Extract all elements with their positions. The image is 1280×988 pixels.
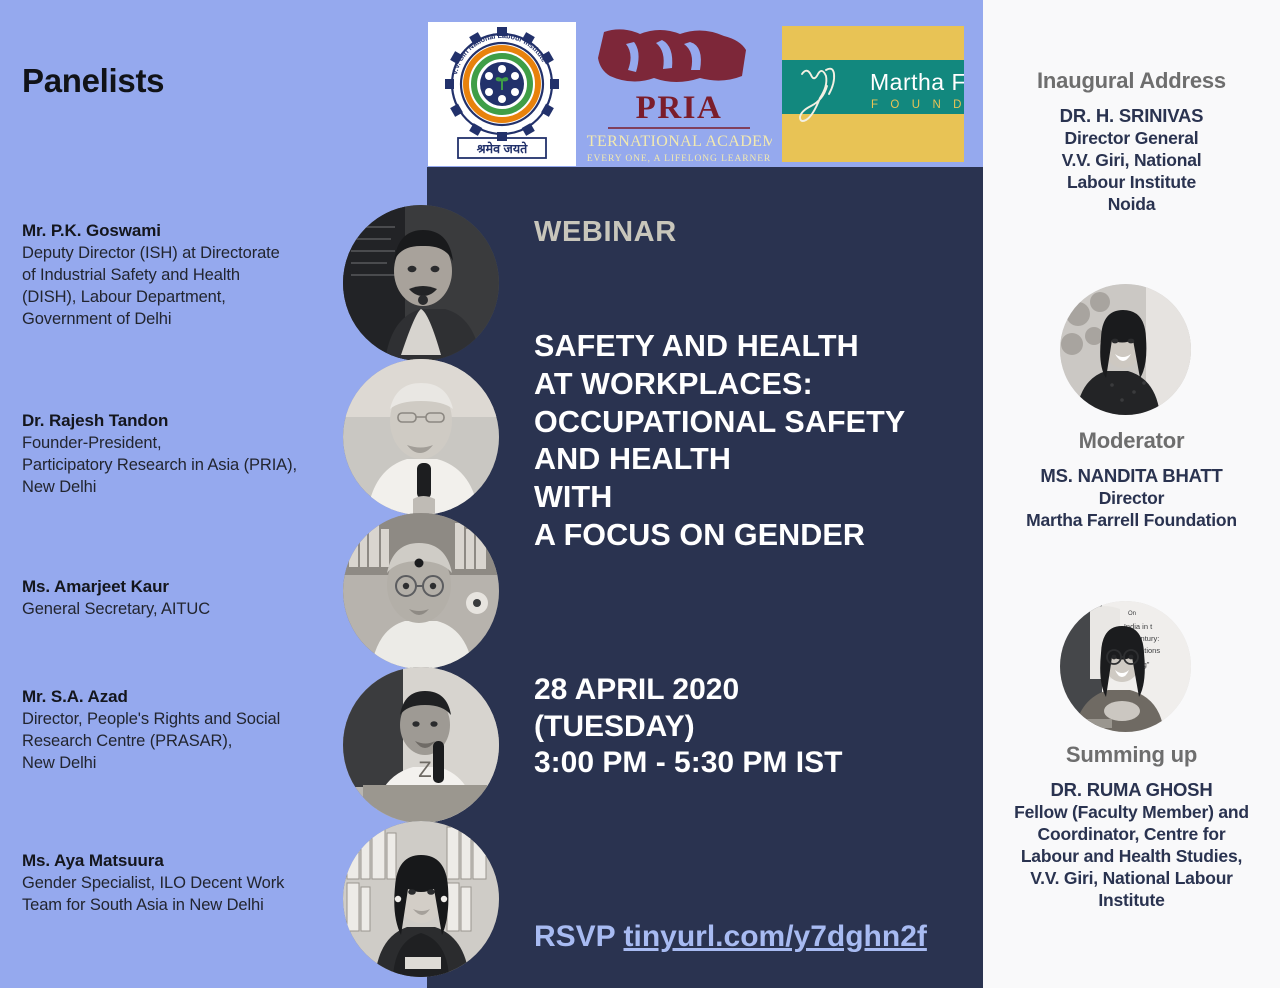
- panelist-name: Mr. S.A. Azad: [22, 686, 340, 708]
- panelist-item-4: Mr. S.A. Azad Director, People's Rights …: [22, 686, 340, 775]
- panelist-photo-4: Z: [343, 667, 499, 823]
- moderator-section: Moderator MS. NANDITA BHATT Director Mar…: [995, 428, 1268, 531]
- title-line: OCCUPATIONAL SAFETY: [534, 404, 964, 442]
- rsvp-link[interactable]: tinyurl.com/y7dghn2f: [624, 920, 927, 953]
- panelist-item-1: Mr. P.K. Goswami Deputy Director (ISH) a…: [22, 220, 340, 331]
- event-date: 28 APRIL 2020: [534, 672, 954, 709]
- panelist-item-3: Ms. Amarjeet Kaur General Secretary, AIT…: [22, 576, 340, 621]
- panelist-photo-2: [343, 359, 499, 515]
- webinar-poster: V.V. Giri National Labour Institute श्रम…: [0, 0, 1280, 988]
- section-body: MS. NANDITA BHATT Director Martha Farrel…: [995, 464, 1268, 531]
- svg-text:Z: Z: [418, 757, 431, 782]
- title-line: AND HEALTH: [534, 441, 964, 479]
- svg-text:EVERY ONE, A LIFELONG LEARNER: EVERY ONE, A LIFELONG LEARNER: [587, 154, 771, 164]
- event-datetime: 28 APRIL 2020 (TUESDAY) 3:00 PM - 5:30 P…: [534, 672, 954, 782]
- svg-text:श्रमेव जयते: श्रमेव जयते: [476, 141, 528, 156]
- rsvp-block: RSVP tinyurl.com/y7dghn2f: [534, 920, 927, 954]
- webinar-kicker: WEBINAR: [534, 216, 677, 249]
- panelists-heading: Panelists: [22, 62, 164, 100]
- pria-logo: PRIA INTERNATIONAL ACADEMY EVERY ONE, A …: [586, 22, 772, 166]
- title-line: AT WORKPLACES:: [534, 366, 964, 404]
- panelist-photo-1: [343, 205, 499, 361]
- martha-farrell-foundation-logo: Martha Farrell F O U N D A T I O N: [782, 26, 964, 162]
- section-label: Summing up: [995, 742, 1268, 768]
- webinar-title: SAFETY AND HEALTH AT WORKPLACES: OCCUPAT…: [534, 328, 964, 555]
- title-line: A FOCUS ON GENDER: [534, 517, 964, 555]
- title-line: WITH: [534, 479, 964, 517]
- svg-text:Martha Farrell: Martha Farrell: [870, 69, 964, 95]
- panelist-role: Gender Specialist, ILO Decent Work Team …: [22, 873, 340, 917]
- speaker-photo-nandita-bhatt: [1060, 284, 1191, 415]
- title-line: SAFETY AND HEALTH: [534, 328, 964, 366]
- panelist-name: Ms. Amarjeet Kaur: [22, 576, 340, 598]
- panelist-role: General Secretary, AITUC: [22, 599, 340, 621]
- section-body: DR. H. SRINIVAS Director General V.V. Gi…: [995, 104, 1268, 215]
- panelist-photo-5: [343, 821, 499, 977]
- section-label: Moderator: [995, 428, 1268, 454]
- svg-text:INTERNATIONAL ACADEMY: INTERNATIONAL ACADEMY: [586, 133, 772, 150]
- section-body: DR. RUMA GHOSH Fellow (Faculty Member) a…: [995, 778, 1268, 912]
- panelist-name: Dr. Rajesh Tandon: [22, 410, 340, 432]
- vvgnli-logo: V.V. Giri National Labour Institute श्रम…: [428, 22, 576, 166]
- section-label: Inaugural Address: [995, 68, 1268, 94]
- inaugural-address-section: Inaugural Address DR. H. SRINIVAS Direct…: [995, 68, 1268, 215]
- event-time: 3:00 PM - 5:30 PM IST: [534, 745, 954, 782]
- panelist-role: Deputy Director (ISH) at Directorate of …: [22, 243, 340, 331]
- panelist-item-2: Dr. Rajesh Tandon Founder-President, Par…: [22, 410, 340, 499]
- center-navy-panel: [427, 167, 983, 988]
- panelist-name: Mr. P.K. Goswami: [22, 220, 340, 242]
- panelist-role: Director, People's Rights and Social Res…: [22, 709, 340, 775]
- panelist-name: Ms. Aya Matsuura: [22, 850, 340, 872]
- rsvp-label: RSVP: [534, 920, 624, 953]
- panelist-photo-3: [343, 513, 499, 669]
- summing-up-section: Summing up DR. RUMA GHOSH Fellow (Facult…: [995, 742, 1268, 912]
- svg-text:On: On: [1128, 611, 1136, 617]
- svg-text:F O U N D A T I O N: F O U N D A T I O N: [871, 99, 964, 111]
- speaker-photo-ruma-ghosh: On India in t h Century: nations g": [1060, 601, 1191, 732]
- event-day: (TUESDAY): [534, 709, 954, 746]
- svg-text:PRIA: PRIA: [636, 90, 723, 126]
- panelist-role: Founder-President, Participatory Researc…: [22, 433, 340, 499]
- panelist-item-5: Ms. Aya Matsuura Gender Specialist, ILO …: [22, 850, 340, 917]
